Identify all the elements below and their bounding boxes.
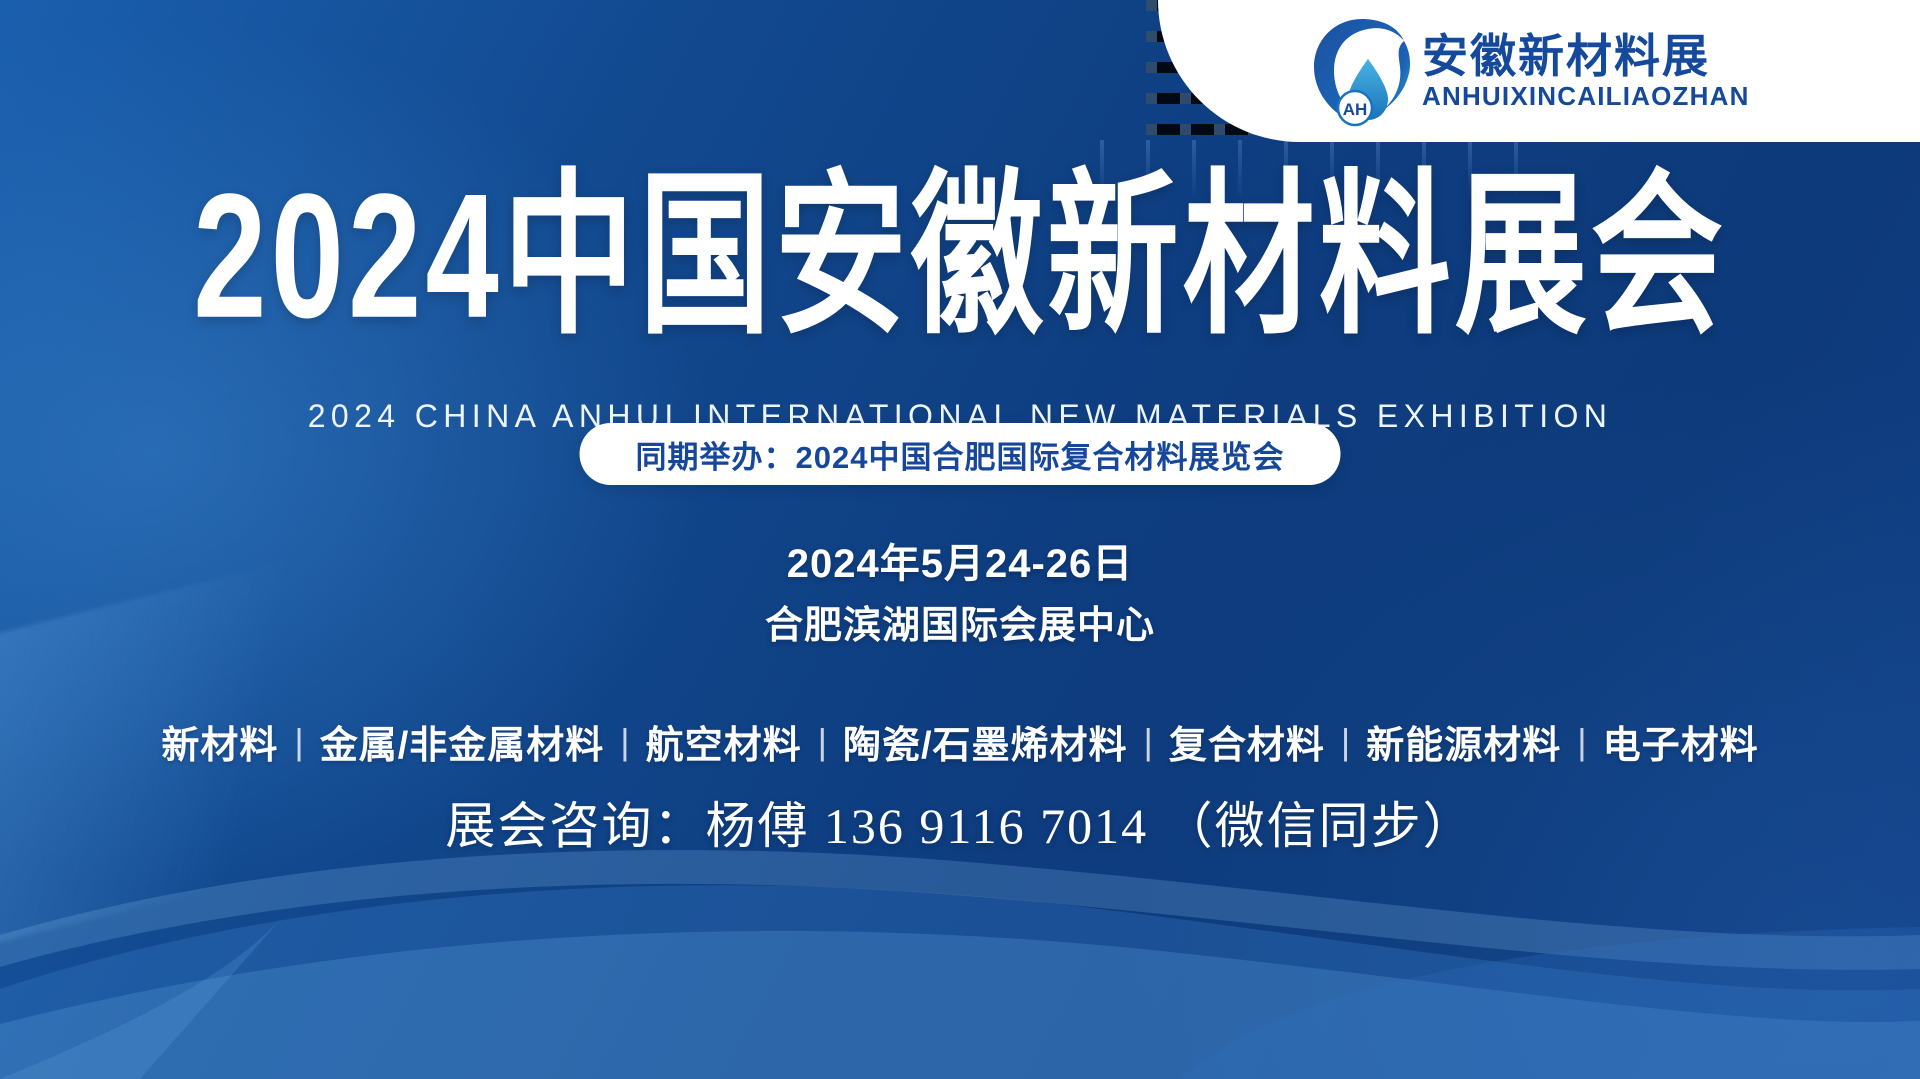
water-drop-leaf-logo-icon: AH xyxy=(1308,15,1416,127)
logo-plate: AH 安徽新材料展 ANHUIXINCAILIAOZHAN xyxy=(1158,0,1920,142)
main-headline: 2024中国安徽新材料展会 xyxy=(0,168,1920,345)
logo-name-cn: 安徽新材料展 xyxy=(1422,32,1750,80)
concurrent-event-text: 同期举办：2024中国合肥国际复合材料展览会 xyxy=(636,432,1285,477)
logo-text: 安徽新材料展 ANHUIXINCAILIAOZHAN xyxy=(1422,32,1750,111)
concurrent-event-pill: 同期举办：2024中国合肥国际复合材料展览会 xyxy=(580,423,1341,485)
logo-name-en: ANHUIXINCAILIAOZHAN xyxy=(1422,82,1750,111)
event-date: 2024年5月24-26日 xyxy=(0,531,1920,589)
logo-badge-text: AH xyxy=(1343,100,1368,119)
wave-ribbons-decoration xyxy=(0,739,1920,1079)
event-venue: 合肥滨湖国际会展中心 xyxy=(0,594,1920,649)
exhibition-banner: AH 安徽新材料展 ANHUIXINCAILIAOZHAN 2024中国安徽新材… xyxy=(0,0,1920,1079)
logo[interactable]: AH 安徽新材料展 ANHUIXINCAILIAOZHAN xyxy=(1308,15,1750,127)
